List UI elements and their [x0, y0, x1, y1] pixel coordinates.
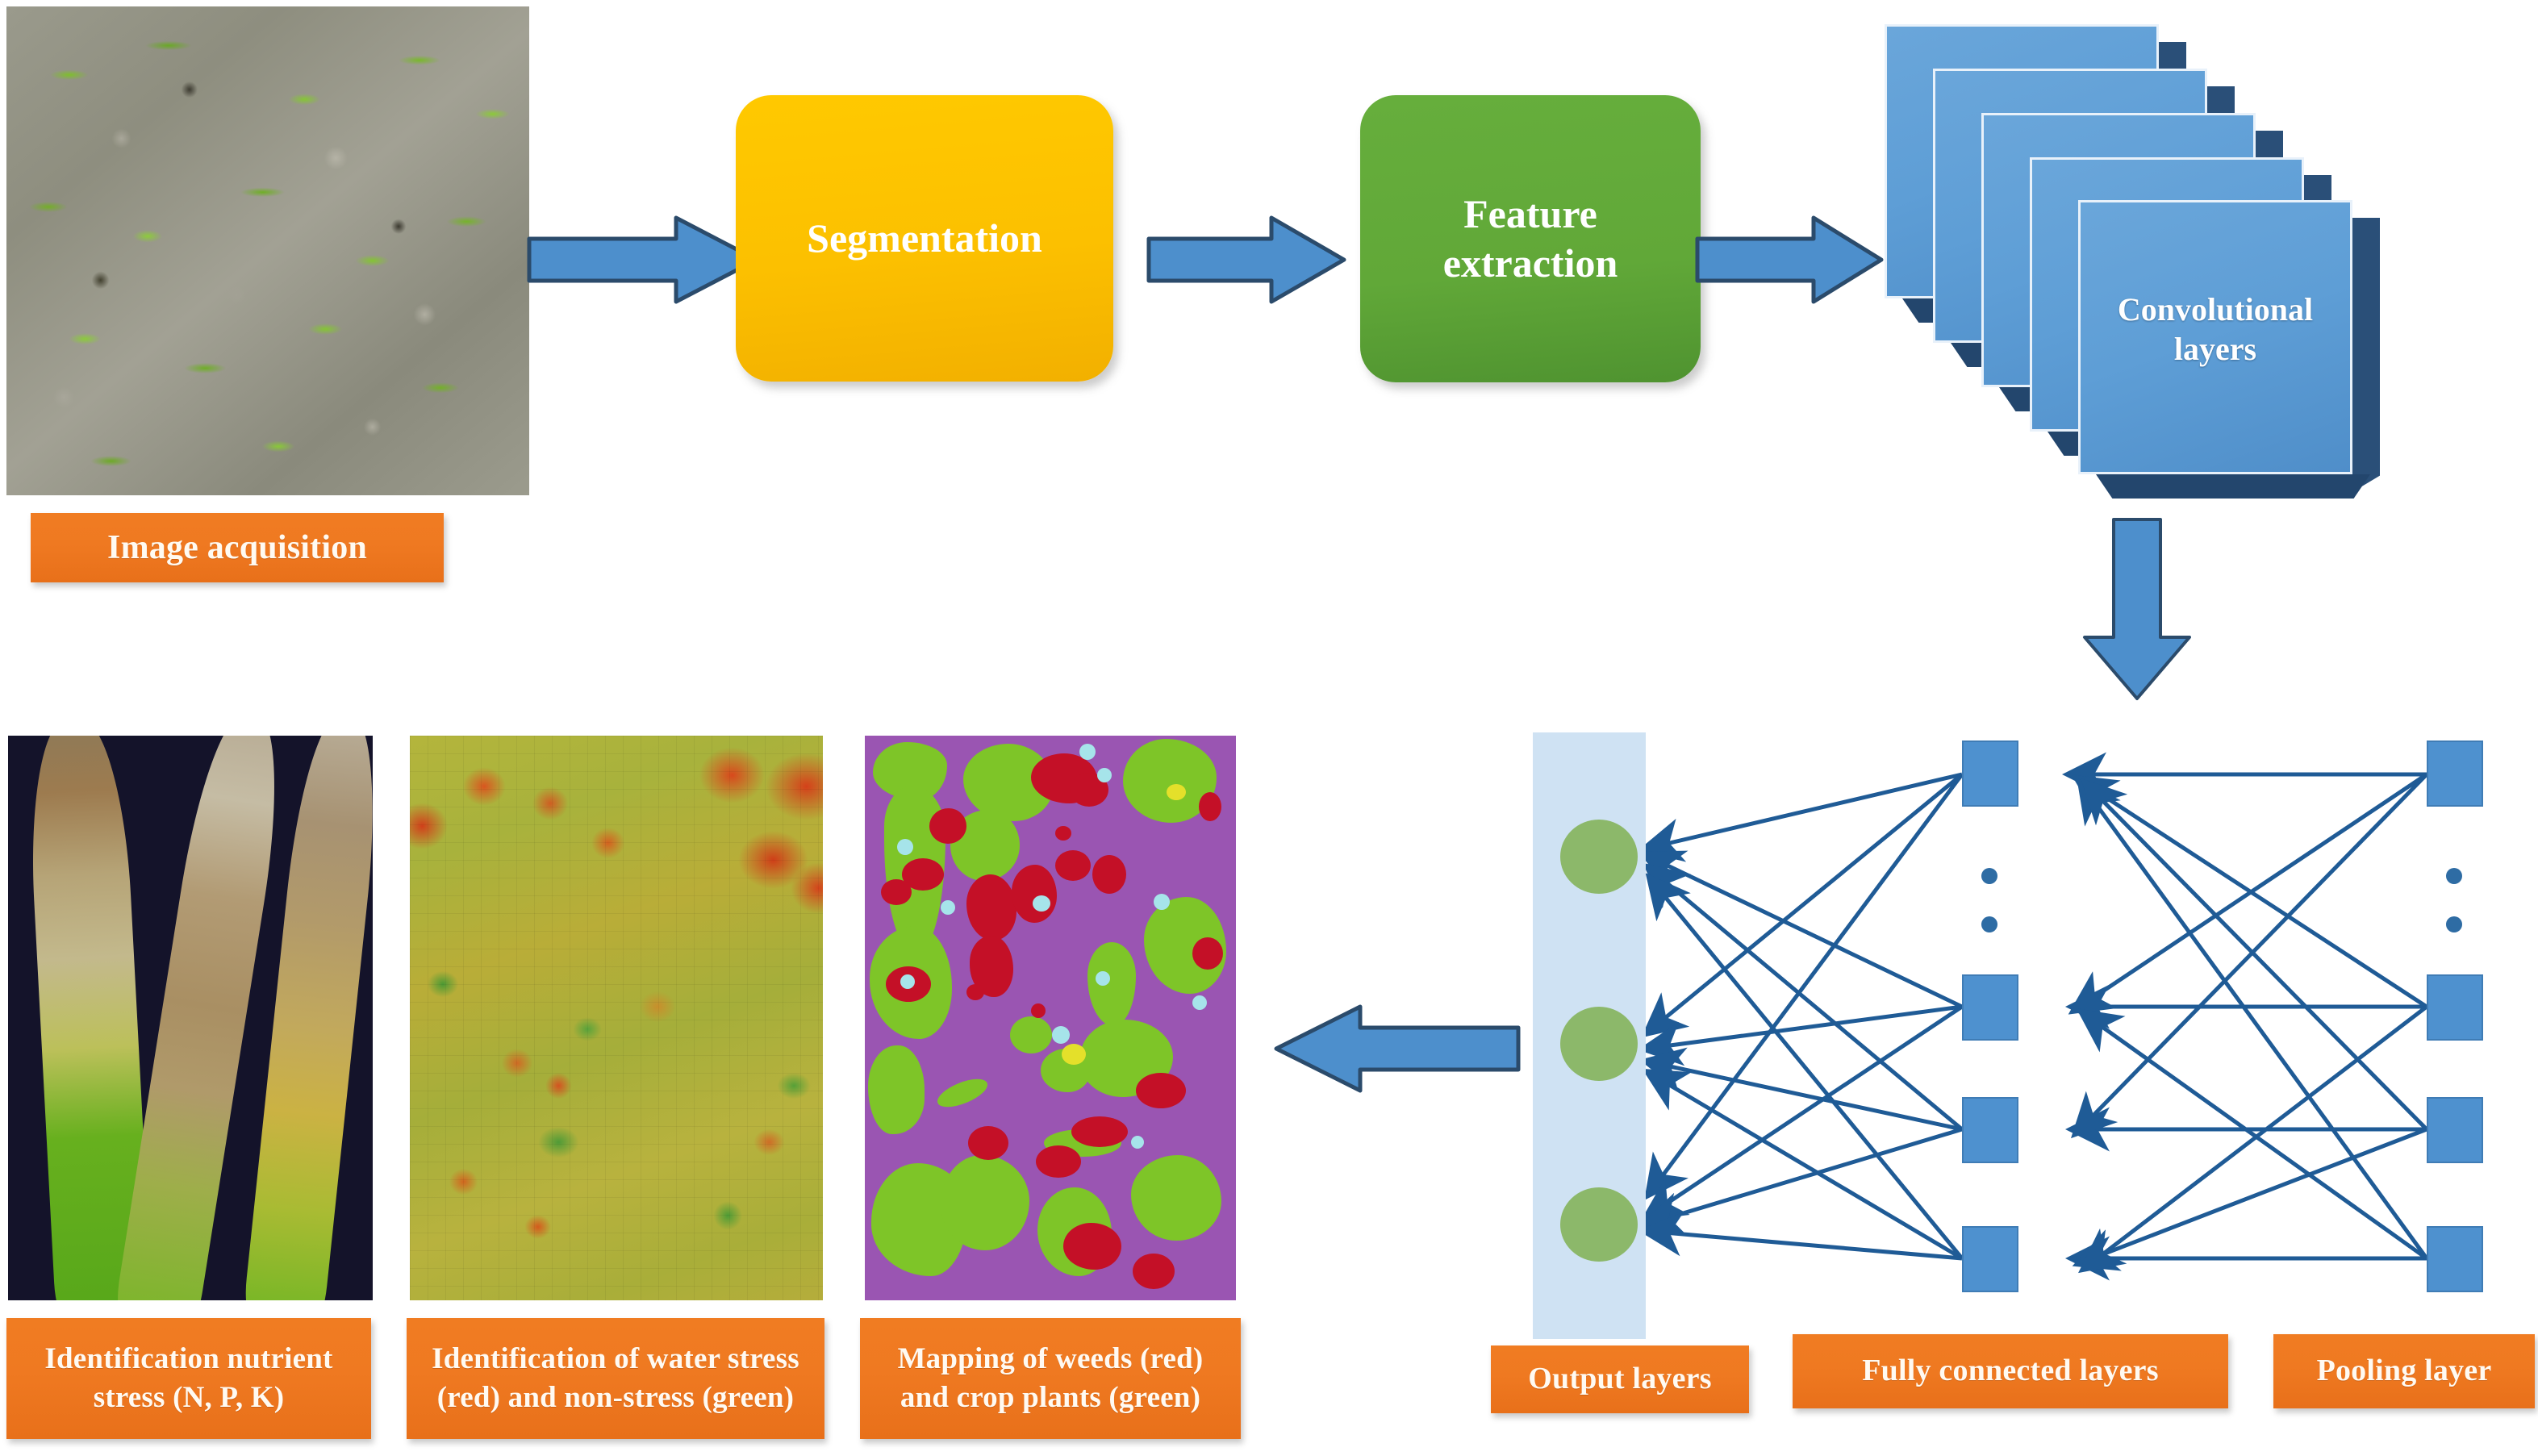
fc-node-3: [1962, 1097, 2018, 1163]
segmentation-box-label: Segmentation: [807, 214, 1042, 263]
nutrient-stress-label-text: Identification nutrient stress (N, P, K): [44, 1340, 332, 1417]
pooling-node-2: [2427, 974, 2483, 1041]
pooling-node-1: [2427, 741, 2483, 807]
arrow-acquisition-to-segmentation: [526, 215, 760, 305]
leaf-nutrient-stress-photo: [8, 736, 373, 1300]
output-neuron-1: [1560, 820, 1638, 894]
thermal-water-stress-photo: [410, 736, 823, 1300]
fc-ellipsis-dot-2: [1981, 916, 1997, 932]
field-grass-soil-photo: [6, 6, 529, 495]
pooling-node-4: [2427, 1226, 2483, 1292]
fc-ellipsis-dot-1: [1981, 868, 1997, 884]
feature-extraction-line1: Feature: [1463, 191, 1597, 236]
fc-node-2: [1962, 974, 2018, 1041]
water-stress-label: Identification of water stress (red) and…: [407, 1318, 824, 1439]
fc-node-4: [1962, 1226, 2018, 1292]
output-neuron-3: [1560, 1187, 1638, 1262]
pooling-layer-label: Pooling layer: [2273, 1334, 2535, 1408]
feature-extraction-box-label: Feature extraction: [1443, 190, 1618, 288]
segmentation-box: Segmentation: [736, 95, 1113, 382]
convolutional-layers-line1: Convolutional: [2118, 291, 2313, 327]
fully-connected-layers-label-text: Fully connected layers: [1862, 1351, 2158, 1391]
output-layers-label-text: Output layers: [1528, 1359, 1711, 1399]
feature-extraction-line2: extraction: [1443, 240, 1618, 286]
nutrient-stress-label: Identification nutrient stress (N, P, K): [6, 1318, 371, 1439]
pooling-node-3: [2427, 1097, 2483, 1163]
weed-crop-map-photo: [865, 736, 1236, 1300]
image-acquisition-label: Image acquisition: [31, 513, 444, 582]
water-stress-label-text: Identification of water stress (red) and…: [432, 1340, 799, 1417]
weed-mapping-label-text: Mapping of weeds (red) and crop plants (…: [898, 1340, 1204, 1417]
water-stress-line2: (red) and non-stress (green): [437, 1381, 794, 1414]
diagram-canvas: Image acquisition Segmentation Feature e…: [0, 0, 2538, 1456]
nutrient-stress-line1: Identification nutrient: [44, 1342, 332, 1375]
weed-mapping-label: Mapping of weeds (red) and crop plants (…: [860, 1318, 1241, 1439]
weed-mapping-line1: Mapping of weeds (red): [898, 1342, 1204, 1375]
arrow-convolution-to-network: [2077, 516, 2198, 702]
pooling-layer-label-text: Pooling layer: [2317, 1351, 2492, 1391]
output-layers-label: Output layers: [1491, 1345, 1749, 1413]
convolutional-layers-line2: layers: [2174, 331, 2256, 367]
arrow-network-to-outputs: [1271, 1003, 1522, 1094]
arrow-segmentation-to-feature: [1146, 215, 1347, 305]
convolutional-layers-stack: Convolutional layers: [1885, 24, 2385, 492]
feature-extraction-box: Feature extraction: [1360, 95, 1701, 382]
arrow-feature-to-convolution: [1694, 215, 1885, 305]
pooling-ellipsis-dot-2: [2446, 916, 2462, 932]
water-stress-line1: Identification of water stress: [432, 1342, 799, 1375]
pooling-ellipsis-dot-1: [2446, 868, 2462, 884]
nutrient-stress-line2: stress (N, P, K): [94, 1381, 285, 1414]
output-neuron-2: [1560, 1007, 1638, 1081]
weed-mapping-line2: and crop plants (green): [900, 1381, 1200, 1414]
convolutional-layers-label: Convolutional layers: [2085, 290, 2346, 369]
fully-connected-layers-label: Fully connected layers: [1793, 1334, 2228, 1408]
fc-node-1: [1962, 741, 2018, 807]
thermal-grid-texture: [410, 736, 823, 1300]
image-acquisition-label-text: Image acquisition: [107, 526, 367, 570]
